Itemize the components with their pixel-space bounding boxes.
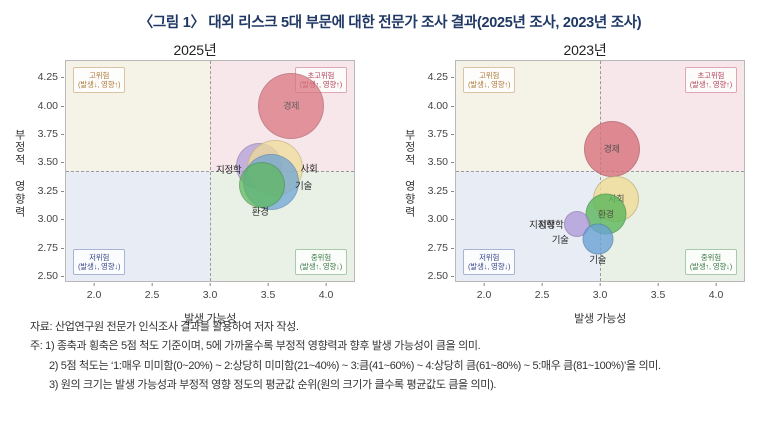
- plot-wrap-2025: 고위험(발생↓, 영향↑) 초고위험(발생↑, 영향↑) 저위험(발생↓, 영향…: [65, 60, 355, 282]
- x-axis-tick: 3.5: [651, 282, 666, 301]
- footnote-note-3: 3) 원의 크기는 발생 가능성과 부정적 영향 정도의 평균값 순위(원의 크…: [30, 376, 760, 395]
- bubble-label-사회: 사회: [301, 161, 318, 175]
- footnotes: 자료: 산업연구원 전문가 인식조사 결과를 활용하여 저자 작성. 주: 1)…: [30, 318, 760, 395]
- quadrant-label-line-2: (발생↓, 영향↑): [78, 80, 120, 89]
- chart-2025: 2025년 부정적 영향력 고위험(발생↓, 영향↑) 초고위험(발생↑, 영향…: [0, 32, 390, 317]
- footnote-note-2: 2) 5점 척도는 ‘1:매우 미미함(0~20%) ~ 2:상당히 미미함(2…: [30, 357, 760, 376]
- x-axis-tick: 4.0: [709, 282, 724, 301]
- quadrant-label-line-1: 중위험: [690, 253, 732, 262]
- bubble-label-지정학: 지정학: [538, 217, 563, 231]
- quadrant-label-line-1: 중위험: [300, 253, 342, 262]
- x-axis-tick: 4.0: [319, 282, 334, 301]
- quadrant-label-line-1: 저위험: [468, 253, 510, 262]
- bubble-환경[interactable]: [239, 162, 285, 208]
- y-axis-tick: 3.25: [428, 185, 455, 197]
- quadrant-label-line-2: (발생↑, 영향↓): [690, 262, 732, 271]
- y-axis-tick: 3.50: [428, 156, 455, 168]
- bubble-label-기술: 기술: [589, 252, 606, 266]
- y-axis-tick: 2.75: [428, 242, 455, 254]
- x-axis-tick: 3.0: [203, 282, 218, 301]
- y-axis-tick: 3.00: [38, 213, 65, 225]
- charts-row: 2025년 부정적 영향력 고위험(발생↓, 영향↑) 초고위험(발생↑, 영향…: [0, 32, 780, 317]
- x-axis-tick: 2.5: [535, 282, 550, 301]
- y-axis-tick: 3.00: [428, 213, 455, 225]
- y-axis-tick: 2.75: [38, 242, 65, 254]
- quadrant-label-ultra-high-risk: 초고위험(발생↑, 영향↑): [685, 67, 737, 93]
- y-axis-title-2023: 부정적 영향력: [402, 129, 418, 220]
- quadrant-label-medium-risk: 중위험(발생↑, 영향↓): [685, 249, 737, 275]
- quadrant-label-line-1: 초고위험: [690, 71, 732, 80]
- bubble-label: 경제: [283, 99, 299, 112]
- y-axis-tick: 4.25: [428, 71, 455, 83]
- quadrant-label-line-1: 고위험: [78, 71, 120, 80]
- chart-2023-title: 2023년: [390, 40, 780, 60]
- x-axis-tick: 3.5: [261, 282, 276, 301]
- y-axis-tick: 4.00: [428, 100, 455, 112]
- page-title: 〈그림 1〉 대외 리스크 5대 부문에 대한 전문가 조사 결과(2025년 …: [0, 0, 780, 32]
- quadrant-label-line-2: (발생↑, 영향↓): [300, 262, 342, 271]
- chart-2023: 2023년 부정적 영향력 고위험(발생↓, 영향↑) 초고위험(발생↑, 영향…: [390, 32, 780, 317]
- y-axis-tick: 3.75: [428, 128, 455, 140]
- y-axis-tick: 3.75: [38, 128, 65, 140]
- y-axis-tick: 2.50: [428, 270, 455, 282]
- y-axis-tick: 2.50: [38, 270, 65, 282]
- plot-wrap-2023: 고위험(발생↓, 영향↑) 초고위험(발생↑, 영향↑) 저위험(발생↓, 영향…: [455, 60, 745, 282]
- y-axis-tick: 3.25: [38, 185, 65, 197]
- y-axis-tick: 4.25: [38, 71, 65, 83]
- bubble-label-지정학: 지정학: [216, 162, 241, 176]
- x-axis-tick: 3.0: [593, 282, 608, 301]
- quadrant-label-high-risk: 고위험(발생↓, 영향↑): [73, 67, 125, 93]
- quadrant-label-low-risk: 저위험(발생↓, 영향↓): [463, 249, 515, 275]
- quadrant-label-line-1: 저위험: [78, 253, 120, 262]
- bubble-label: 환경: [598, 207, 614, 220]
- quadrant-label-line-2: (발생↓, 영향↓): [468, 262, 510, 271]
- bubble-label-기술: 기술: [295, 178, 312, 192]
- y-axis-tick: 3.50: [38, 156, 65, 168]
- y-axis-title-2025: 부정적 영향력: [12, 129, 28, 220]
- bubble-label: 경제: [604, 142, 620, 155]
- bubble-label: 기술: [552, 232, 569, 246]
- chart-2025-title: 2025년: [0, 40, 390, 60]
- quadrant-label-medium-risk: 중위험(발생↑, 영향↓): [295, 249, 347, 275]
- x-axis-tick: 2.0: [87, 282, 102, 301]
- x-axis-tick: 2.5: [145, 282, 160, 301]
- footnote-note-1: 주: 1) 종축과 횡축은 5점 척도 기준이며, 5에 가까울수록 부정적 영…: [30, 337, 760, 356]
- quadrant-label-line-1: 고위험: [468, 71, 510, 80]
- y-axis-tick: 4.00: [38, 100, 65, 112]
- x-axis-tick: 2.0: [477, 282, 492, 301]
- quadrant-label-line-2: (발생↓, 영향↓): [78, 262, 120, 271]
- bubble-기술[interactable]: [582, 223, 613, 254]
- bubble-label-환경: 환경: [252, 204, 269, 218]
- footnote-source: 자료: 산업연구원 전문가 인식조사 결과를 활용하여 저자 작성.: [30, 318, 760, 337]
- quadrant-label-high-risk: 고위험(발생↓, 영향↑): [463, 67, 515, 93]
- quadrant-label-line-2: (발생↑, 영향↑): [690, 80, 732, 89]
- bubble-경제[interactable]: 경제: [258, 73, 324, 139]
- bubble-경제[interactable]: 경제: [584, 121, 640, 177]
- quadrant-label-low-risk: 저위험(발생↓, 영향↓): [73, 249, 125, 275]
- quadrant-label-line-2: (발생↓, 영향↑): [468, 80, 510, 89]
